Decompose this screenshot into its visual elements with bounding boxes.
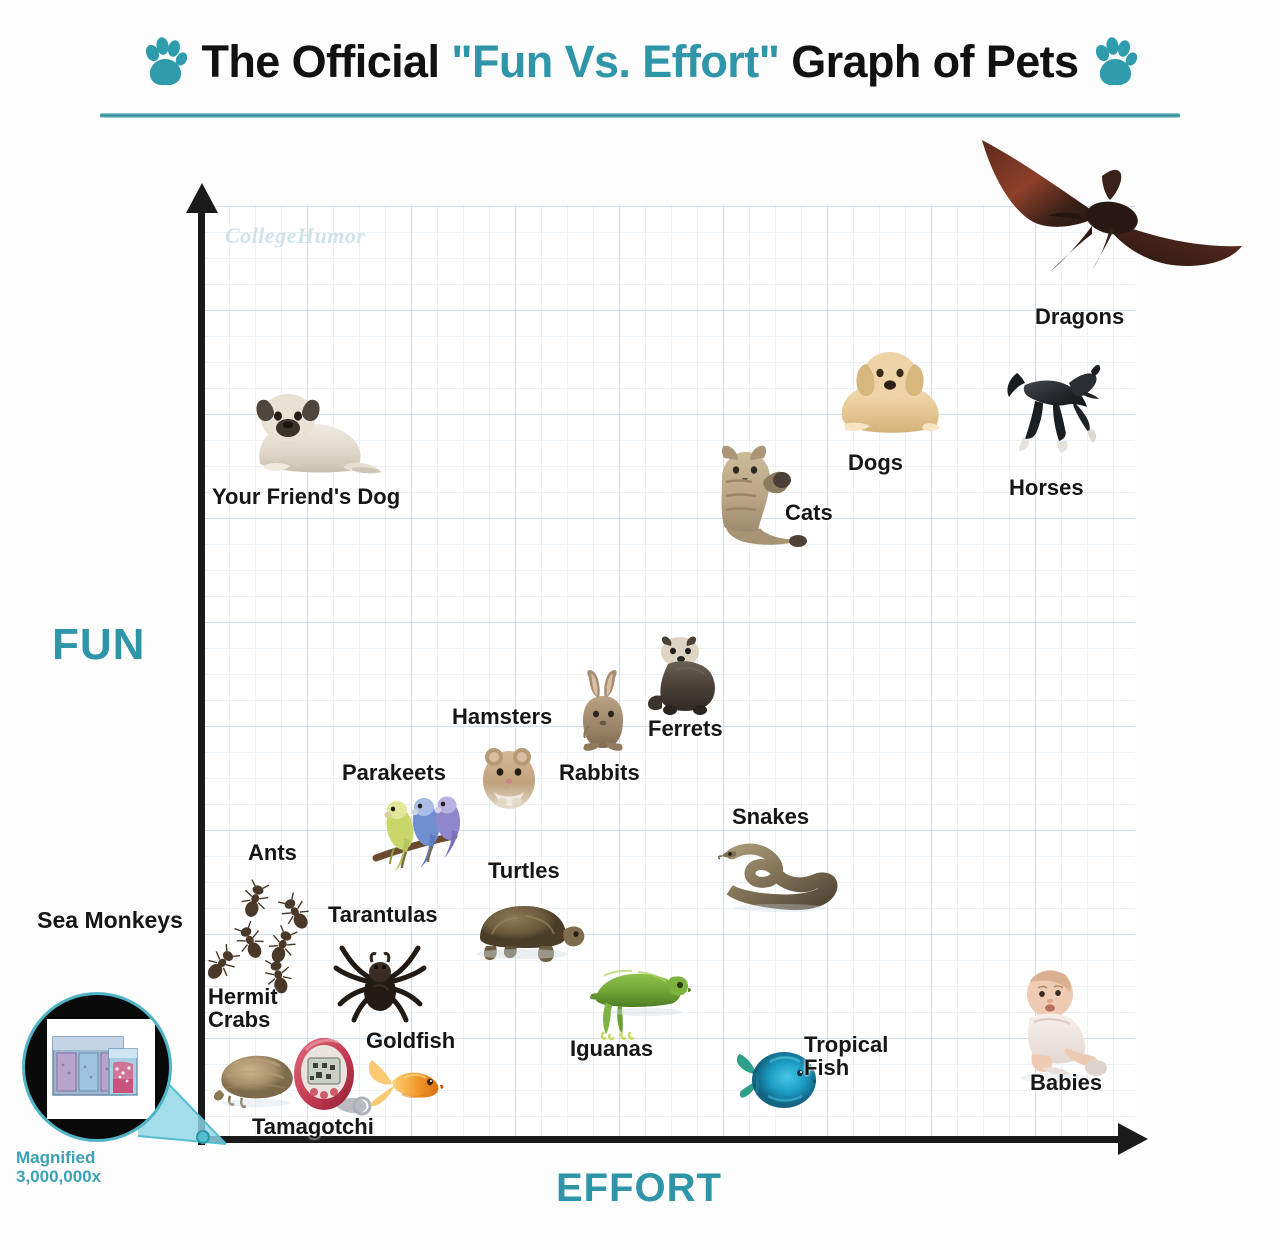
point-label-tarantulas: Tarantulas bbox=[328, 904, 438, 927]
dragon-icon bbox=[960, 130, 1260, 280]
point-label-hermit-crabs: Hermit Crabs bbox=[208, 986, 278, 1032]
header: The Official "Fun Vs. Effort" Graph of P… bbox=[0, 0, 1280, 122]
iguana-icon bbox=[588, 962, 693, 1040]
title-part-1: The Official bbox=[202, 36, 452, 87]
ants-icon bbox=[214, 884, 334, 989]
ferret-icon bbox=[640, 630, 730, 725]
pug-icon bbox=[240, 378, 390, 488]
point-label-ferrets: Ferrets bbox=[648, 718, 723, 741]
baby-icon bbox=[1008, 968, 1108, 1086]
point-label-rabbits: Rabbits bbox=[559, 762, 640, 785]
point-label-sea-monkeys: Sea Monkeys bbox=[20, 908, 200, 933]
point-label-dogs: Dogs bbox=[848, 452, 903, 475]
point-label-tropical-fish: Tropical Fish bbox=[804, 1034, 888, 1080]
page-title: The Official "Fun Vs. Effort" Graph of P… bbox=[202, 36, 1079, 88]
point-label-snakes: Snakes bbox=[732, 806, 809, 829]
y-axis-label: FUN bbox=[52, 620, 145, 670]
point-label-hamsters: Hamsters bbox=[452, 706, 552, 729]
point-label-babies: Babies bbox=[1030, 1072, 1102, 1095]
title-row: The Official "Fun Vs. Effort" Graph of P… bbox=[0, 26, 1280, 98]
sea-monkeys-kit-icon bbox=[47, 1019, 155, 1119]
horse-icon bbox=[995, 355, 1105, 465]
infographic-page: The Official "Fun Vs. Effort" Graph of P… bbox=[0, 0, 1280, 1250]
x-axis-arrow-icon bbox=[1118, 1123, 1148, 1155]
point-label-dragons: Dragons bbox=[1035, 306, 1124, 329]
point-label-tamagotchi: Tamagotchi bbox=[252, 1116, 374, 1139]
point-label-iguanas: Iguanas bbox=[570, 1038, 653, 1061]
rabbit-icon bbox=[563, 668, 643, 758]
magnifier-caption-line-1: Magnified bbox=[16, 1148, 95, 1167]
magnifier-caption-line-2: 3,000,000x bbox=[16, 1167, 101, 1186]
tarantula-icon bbox=[334, 940, 430, 1026]
cat-icon bbox=[700, 440, 815, 555]
point-label-turtles: Turtles bbox=[488, 860, 560, 883]
magnifier-lens bbox=[22, 992, 172, 1142]
turtle-icon bbox=[466, 896, 586, 968]
point-label-your-friends-dog: Your Friend's Dog bbox=[212, 486, 400, 509]
point-label-parakeets: Parakeets bbox=[342, 762, 446, 785]
point-label-ants: Ants bbox=[248, 842, 297, 865]
point-label-cats: Cats bbox=[785, 502, 833, 525]
title-part-2: Graph of Pets bbox=[779, 36, 1078, 87]
snake-icon bbox=[718, 838, 838, 916]
title-quoted-part: "Fun Vs. Effort" bbox=[451, 36, 779, 87]
watermark: CollegeHumor bbox=[225, 223, 365, 249]
magnifier-group bbox=[14, 992, 210, 1152]
hamster-icon bbox=[476, 740, 542, 812]
point-label-horses: Horses bbox=[1009, 477, 1084, 500]
magnifier-caption: Magnified3,000,000x bbox=[16, 1148, 186, 1186]
y-axis-arrow-icon bbox=[186, 183, 218, 213]
header-divider bbox=[100, 113, 1180, 118]
x-axis-label: EFFORT bbox=[556, 1166, 722, 1211]
golden-retriever-icon bbox=[828, 340, 953, 450]
paw-print-icon-left bbox=[142, 36, 188, 88]
goldfish-icon bbox=[368, 1052, 448, 1110]
parakeets-icon bbox=[370, 794, 475, 884]
paw-print-icon-right bbox=[1092, 36, 1138, 88]
point-label-goldfish: Goldfish bbox=[366, 1030, 455, 1053]
magnifier-origin-dot bbox=[196, 1130, 210, 1144]
